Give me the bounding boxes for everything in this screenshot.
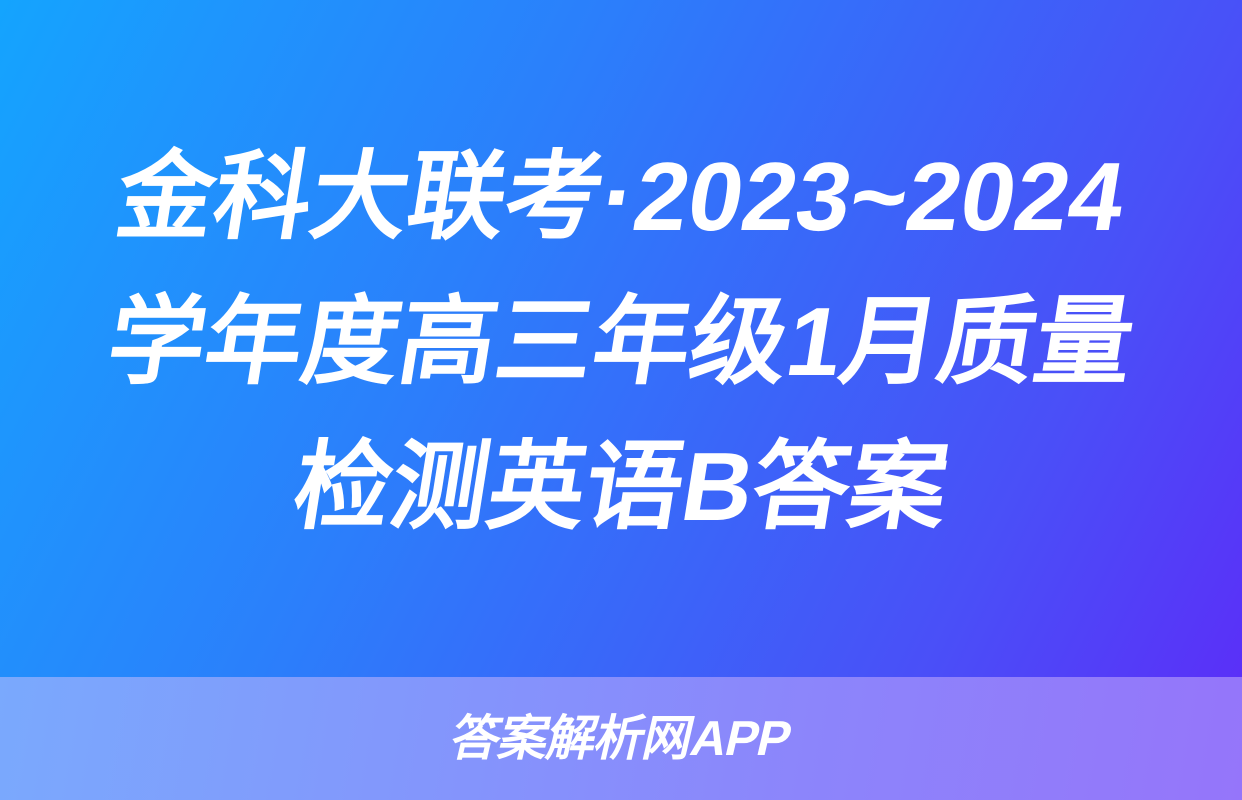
exam-title-line-2: 学年度高三年级1月质量 <box>98 269 1145 414</box>
footer-brand-band: 答案解析网APP <box>0 677 1242 800</box>
exam-title-line-1: 金科大联考·2023~2024 <box>107 124 1135 269</box>
footer-brand-label: 答案解析网APP <box>446 713 796 764</box>
answer-cover-card: 金科大联考·2023~2024 学年度高三年级1月质量 检测英语B答案 答案解析… <box>0 0 1242 800</box>
exam-title-block: 金科大联考·2023~2024 学年度高三年级1月质量 检测英语B答案 <box>0 0 1242 677</box>
exam-title-line-3: 检测英语B答案 <box>283 414 958 559</box>
